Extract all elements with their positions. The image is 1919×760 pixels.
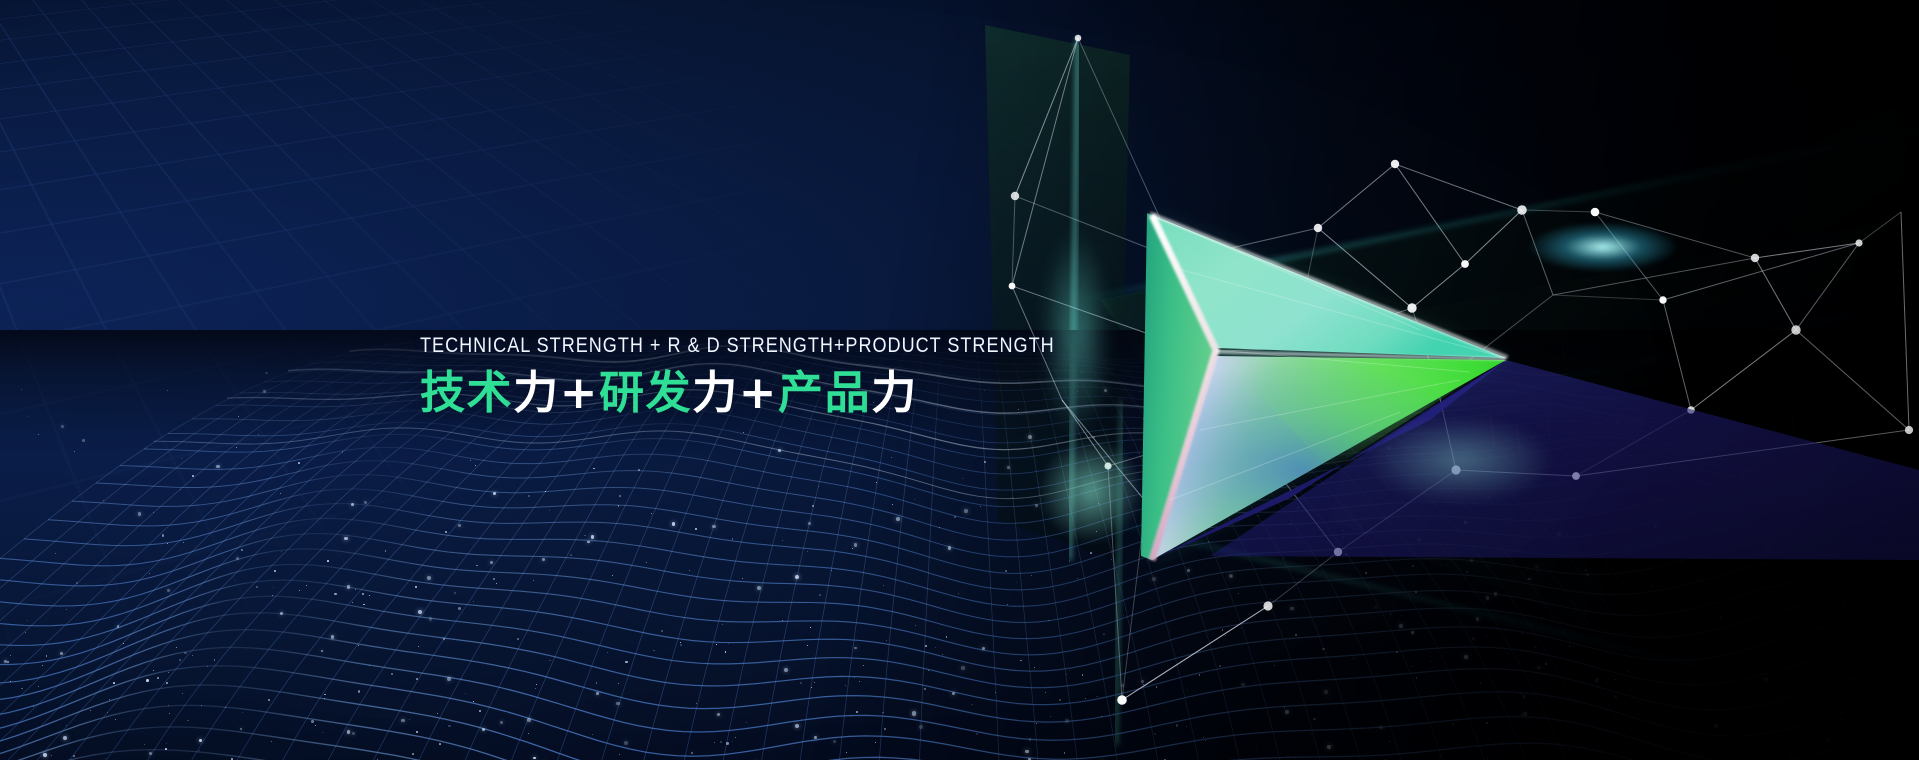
headline-cn-part-2: 力+ — [513, 366, 599, 419]
headline-block: TECHNICAL STRENGTH + R & D STRENGTH+PROD… — [420, 333, 1158, 421]
hero-banner: TECHNICAL STRENGTH + R & D STRENGTH+PROD… — [0, 0, 1919, 760]
headline-cn-part-1: 技术 — [420, 366, 513, 419]
headline-cn-part-6: 力 — [871, 366, 918, 419]
headline-chinese: 技术力+研发力+产品力 — [420, 365, 1158, 421]
headline-cn-part-3: 研发 — [599, 366, 692, 419]
headline-cn-part-5: 产品 — [778, 366, 871, 419]
headline-english: TECHNICAL STRENGTH + R & D STRENGTH+PROD… — [420, 333, 1055, 359]
headline-cn-part-4: 力+ — [692, 366, 778, 419]
